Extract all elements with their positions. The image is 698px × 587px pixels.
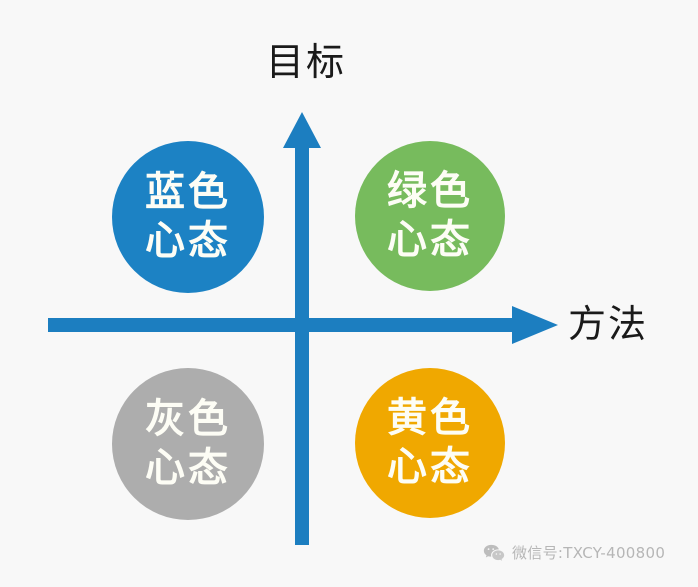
bubble-orange-line2: 心态 [387, 443, 473, 492]
wechat-icon [483, 543, 505, 563]
bubble-gray-line1: 灰色 [145, 395, 231, 444]
bubble-green-line2: 心态 [387, 216, 473, 265]
vertical-axis-arrowhead [283, 112, 321, 148]
horizontal-axis-line [48, 318, 518, 332]
quadrant-bubble-green: 绿色 心态 [355, 141, 505, 291]
watermark-text: 微信号:TXCY-400800 [512, 543, 665, 563]
bubble-blue-line1: 蓝色 [145, 168, 231, 217]
axes-group [0, 0, 698, 587]
bubble-green-line1: 绿色 [387, 167, 473, 216]
horizontal-axis-label: 方法 [568, 300, 698, 348]
bubble-orange-line1: 黄色 [387, 394, 473, 443]
diagram-canvas: 目标 方法 蓝色 心态 绿色 心态 灰色 心态 黄色 心态 [0, 0, 698, 587]
watermark: 微信号:TXCY-400800 [483, 543, 665, 563]
vertical-axis-label: 目标 [236, 38, 376, 86]
quadrant-bubble-orange: 黄色 心态 [355, 368, 505, 518]
horizontal-axis-arrowhead [512, 306, 558, 344]
quadrant-bubble-blue: 蓝色 心态 [112, 141, 264, 293]
quadrant-bubble-gray: 灰色 心态 [112, 368, 264, 520]
bubble-gray-line2: 心态 [145, 444, 231, 493]
vertical-axis-line [295, 140, 309, 545]
bubble-blue-line2: 心态 [145, 217, 231, 266]
